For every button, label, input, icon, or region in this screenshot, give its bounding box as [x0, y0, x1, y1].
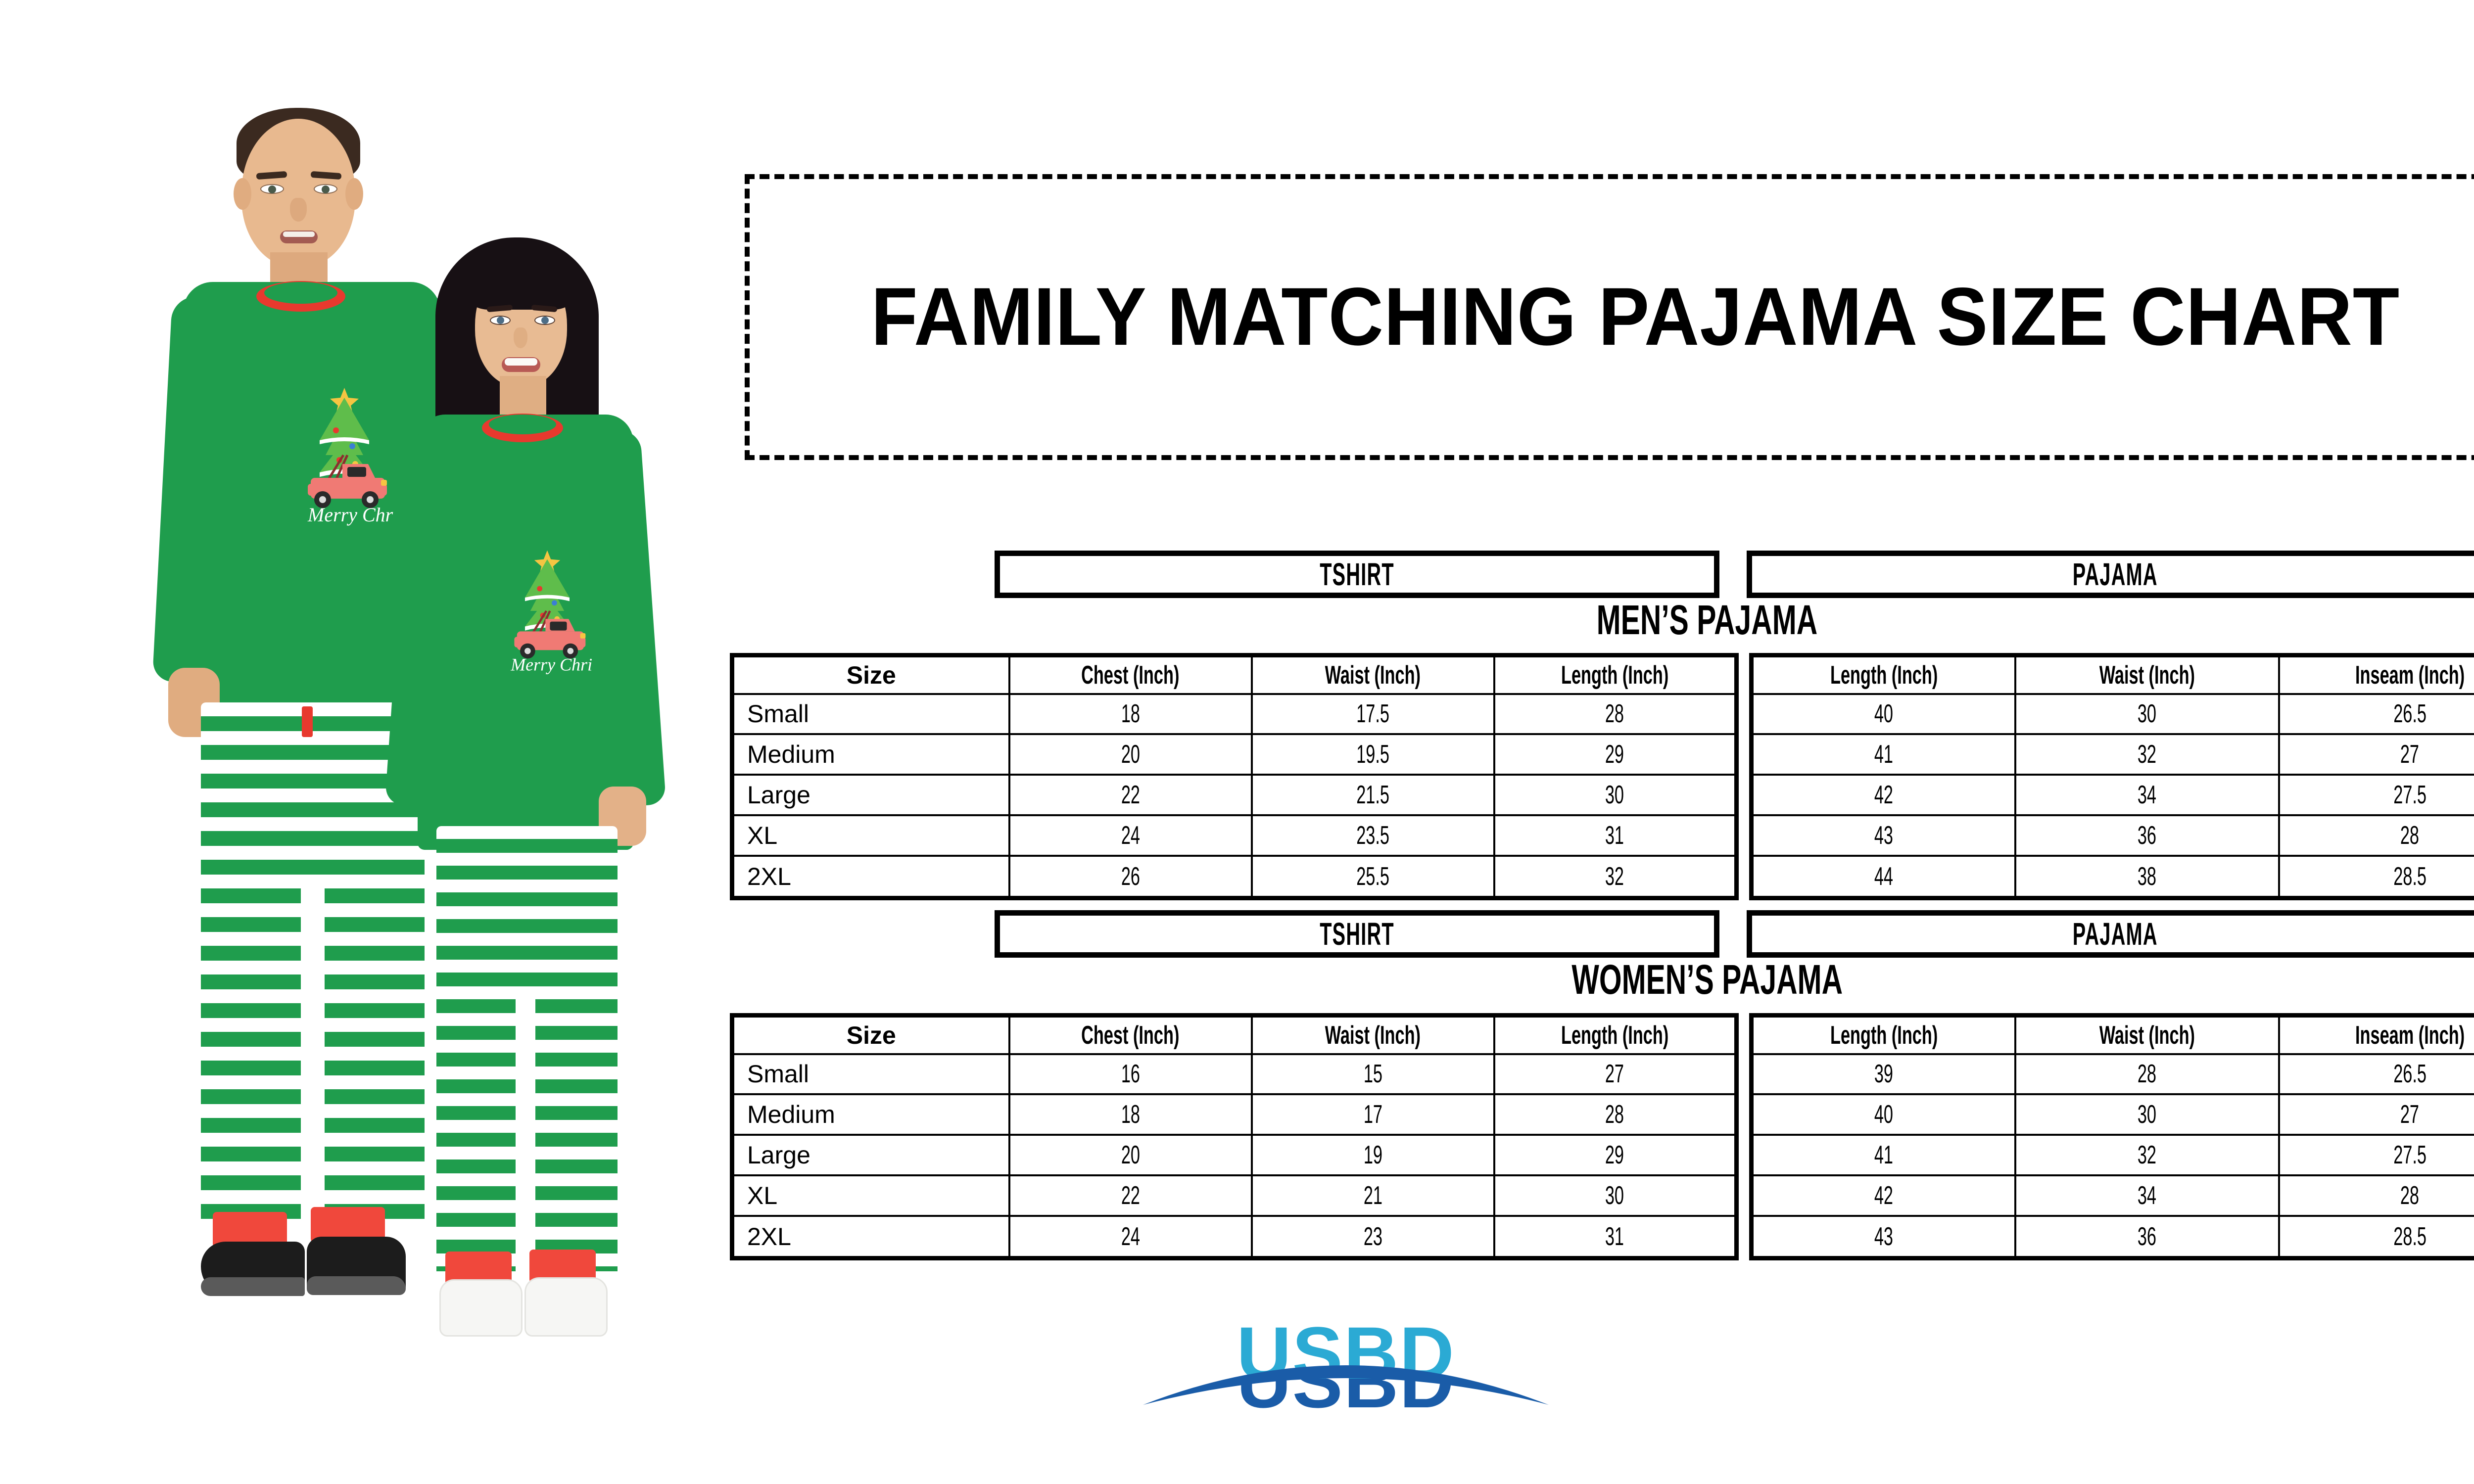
- cell-waist: 19: [1252, 1135, 1494, 1175]
- cell-length: 39: [1752, 1054, 2015, 1095]
- mens-tshirt-size-table: Size Chest (Inch) Waist (Inch) Length (I…: [730, 653, 1739, 900]
- cell-length: 42: [1752, 1175, 2015, 1216]
- womens-pajama-category-label: PAJAMA: [2073, 916, 2158, 952]
- womens-tshirt-category-bar: TSHIRT: [995, 910, 1719, 958]
- cell-waist: 34: [2015, 775, 2279, 815]
- mens-tshirt-category-bar: TSHIRT: [995, 551, 1719, 598]
- cell-size: 2XL: [732, 1216, 1009, 1258]
- table-row: Large 20 19 29: [732, 1135, 1737, 1175]
- cell-waist: 38: [2015, 856, 2279, 898]
- product-photo: Merry Christmas: [148, 84, 717, 1296]
- truck-and-tree-print-icon: Merry Christmas: [245, 381, 394, 529]
- table-row: 2XL 26 25.5 32: [732, 856, 1737, 898]
- mens-pajama-heading: MEN’S PAJAMA: [1336, 596, 2078, 644]
- hair-top: [469, 250, 573, 310]
- mens-pajama-category-label: PAJAMA: [2073, 556, 2158, 593]
- cell-inseam: 26.5: [2279, 1054, 2474, 1095]
- table-row: 42 34 28: [1752, 1175, 2474, 1216]
- cell-length: 41: [1752, 734, 2015, 775]
- sock-right: [524, 1277, 608, 1337]
- cell-inseam: 27.5: [2279, 775, 2474, 815]
- ear-right: [345, 178, 363, 210]
- cell-waist: 32: [2015, 1135, 2279, 1175]
- womens-pajama-heading: WOMEN’S PAJAMA: [1286, 956, 2128, 1004]
- cell-length: 31: [1494, 1216, 1737, 1258]
- nose: [514, 327, 527, 348]
- table-header-row: Length (Inch) Waist (Inch) Inseam (Inch): [1752, 655, 2474, 694]
- cell-inseam: 28.5: [2279, 1216, 2474, 1258]
- cell-waist: 15: [1252, 1054, 1494, 1095]
- cell-chest: 26: [1009, 856, 1252, 898]
- col-header-waist: Waist (Inch): [1252, 655, 1494, 694]
- cell-inseam: 28.5: [2279, 856, 2474, 898]
- table-row: Medium 18 17 28: [732, 1094, 1737, 1135]
- cell-size: Medium: [732, 1094, 1009, 1135]
- table-row: 41 32 27.5: [1752, 1135, 2474, 1175]
- cell-chest: 18: [1009, 694, 1252, 735]
- collar-opening: [489, 415, 556, 434]
- table-header-row: Size Chest (Inch) Waist (Inch) Length (I…: [732, 655, 1737, 694]
- teeth: [283, 232, 315, 237]
- cell-waist: 36: [2015, 815, 2279, 856]
- cell-waist: 28: [2015, 1054, 2279, 1095]
- cell-waist: 25.5: [1252, 856, 1494, 898]
- table-header-row: Length (Inch) Waist (Inch) Inseam (Inch): [1752, 1016, 2474, 1054]
- cell-length: 30: [1494, 1175, 1737, 1216]
- pupil-right: [541, 317, 549, 324]
- table-row: 41 32 27: [1752, 734, 2474, 775]
- cell-chest: 20: [1009, 1135, 1252, 1175]
- cell-length: 27: [1494, 1054, 1737, 1095]
- table-row: Small 16 15 27: [732, 1054, 1737, 1095]
- cell-chest: 22: [1009, 1175, 1252, 1216]
- table-row: XL 24 23.5 31: [732, 815, 1737, 856]
- cell-length: 42: [1752, 775, 2015, 815]
- col-header-inseam: Inseam (Inch): [2279, 655, 2474, 694]
- cell-waist: 17: [1252, 1094, 1494, 1135]
- cell-length: 31: [1494, 815, 1737, 856]
- title-dashed-frame: FAMILY MATCHING PAJAMA SIZE CHART: [745, 174, 2474, 460]
- table-row: 43 36 28.5: [1752, 1216, 2474, 1258]
- cell-inseam: 28: [2279, 1175, 2474, 1216]
- womens-tshirt-size-table: Size Chest (Inch) Waist (Inch) Length (I…: [730, 1013, 1739, 1260]
- pants-center-seam: [301, 885, 325, 1227]
- ear-left: [234, 178, 251, 210]
- womens-pajama-heading-text: WOMEN’S PAJAMA: [1571, 956, 1843, 1004]
- nose: [290, 198, 307, 222]
- neck: [500, 376, 546, 416]
- table-row: 40 30 27: [1752, 1094, 2474, 1135]
- cell-size: Small: [732, 1054, 1009, 1095]
- table-row: XL 22 21 30: [732, 1175, 1737, 1216]
- cell-chest: 20: [1009, 734, 1252, 775]
- womens-tshirt-category-label: TSHIRT: [1320, 916, 1394, 952]
- cell-size: Small: [732, 694, 1009, 735]
- cell-size: XL: [732, 1175, 1009, 1216]
- head: [241, 119, 355, 267]
- cell-size: Large: [732, 1135, 1009, 1175]
- cell-length: 43: [1752, 815, 2015, 856]
- page-title: FAMILY MATCHING PAJAMA SIZE CHART: [871, 270, 2400, 364]
- col-header-length: Length (Inch): [1752, 1016, 2015, 1054]
- cell-length: 43: [1752, 1216, 2015, 1258]
- cell-inseam: 27: [2279, 734, 2474, 775]
- table-row: 2XL 24 23 31: [732, 1216, 1737, 1258]
- cell-length: 30: [1494, 775, 1737, 815]
- col-header-size: Size: [732, 1016, 1009, 1054]
- cell-length: 29: [1494, 1135, 1737, 1175]
- womens-pajama-size-table: Length (Inch) Waist (Inch) Inseam (Inch)…: [1749, 1013, 2474, 1260]
- table-row: Large 22 21.5 30: [732, 775, 1737, 815]
- cell-inseam: 27: [2279, 1094, 2474, 1135]
- table-row: 39 28 26.5: [1752, 1054, 2474, 1095]
- table-row: Medium 20 19.5 29: [732, 734, 1737, 775]
- cell-waist: 30: [2015, 1094, 2279, 1135]
- table-row: 42 34 27.5: [1752, 775, 2474, 815]
- col-header-waist: Waist (Inch): [2015, 1016, 2279, 1054]
- cell-length: 29: [1494, 734, 1737, 775]
- cell-waist: 21: [1252, 1175, 1494, 1216]
- cell-length: 28: [1494, 1094, 1737, 1135]
- col-header-inseam: Inseam (Inch): [2279, 1016, 2474, 1054]
- womens-pajama-category-bar: PAJAMA: [1747, 910, 2474, 958]
- cell-chest: 24: [1009, 815, 1252, 856]
- cell-waist: 21.5: [1252, 775, 1494, 815]
- cell-waist: 17.5: [1252, 694, 1494, 735]
- cell-chest: 16: [1009, 1054, 1252, 1095]
- table-row: 44 38 28.5: [1752, 856, 2474, 898]
- cell-size: XL: [732, 815, 1009, 856]
- svg-text:Merry Christmas: Merry Christmas: [510, 655, 592, 675]
- pupil-left: [497, 317, 504, 324]
- cell-chest: 24: [1009, 1216, 1252, 1258]
- col-header-length: Length (Inch): [1494, 1016, 1737, 1054]
- table-row: Small 18 17.5 28: [732, 694, 1737, 735]
- cell-inseam: 27.5: [2279, 1135, 2474, 1175]
- cell-waist: 19.5: [1252, 734, 1494, 775]
- mens-tshirt-category-label: TSHIRT: [1320, 556, 1394, 593]
- col-header-chest: Chest (Inch): [1009, 655, 1252, 694]
- table-row: 40 30 26.5: [1752, 694, 2474, 735]
- cell-waist: 23.5: [1252, 815, 1494, 856]
- teeth: [505, 358, 537, 366]
- col-header-waist: Waist (Inch): [1252, 1016, 1494, 1054]
- pupil-right: [322, 185, 330, 193]
- female-model: Merry Christmas: [381, 218, 668, 1296]
- table-row: 43 36 28: [1752, 815, 2474, 856]
- col-header-chest: Chest (Inch): [1009, 1016, 1252, 1054]
- cell-waist: 36: [2015, 1216, 2279, 1258]
- mens-pajama-category-bar: PAJAMA: [1747, 551, 2474, 598]
- sock-left: [439, 1279, 523, 1337]
- cell-length: 40: [1752, 694, 2015, 735]
- cell-length: 44: [1752, 856, 2015, 898]
- col-header-length: Length (Inch): [1752, 655, 2015, 694]
- cell-waist: 23: [1252, 1216, 1494, 1258]
- col-header-size: Size: [732, 655, 1009, 694]
- col-header-length: Length (Inch): [1494, 655, 1737, 694]
- sole-left: [201, 1277, 305, 1296]
- cell-size: Large: [732, 775, 1009, 815]
- pants-center-seam: [516, 989, 535, 1271]
- cell-inseam: 26.5: [2279, 694, 2474, 735]
- pupil-left: [268, 185, 276, 193]
- cell-inseam: 28: [2279, 815, 2474, 856]
- cell-waist: 34: [2015, 1175, 2279, 1216]
- table-header-row: Size Chest (Inch) Waist (Inch) Length (I…: [732, 1016, 1737, 1054]
- mens-pajama-size-table: Length (Inch) Waist (Inch) Inseam (Inch)…: [1749, 653, 2474, 900]
- drawstring: [302, 706, 313, 737]
- cell-length: 41: [1752, 1135, 2015, 1175]
- cell-length: 40: [1752, 1094, 2015, 1135]
- cell-length: 32: [1494, 856, 1737, 898]
- cell-chest: 18: [1009, 1094, 1252, 1135]
- collar-opening: [264, 282, 337, 304]
- cell-chest: 22: [1009, 775, 1252, 815]
- cell-size: 2XL: [732, 856, 1009, 898]
- truck-and-tree-print-icon: Merry Christmas: [458, 544, 592, 678]
- usbd-logo: USBD USBD: [1158, 1316, 1534, 1439]
- cell-waist: 30: [2015, 694, 2279, 735]
- cell-length: 28: [1494, 694, 1737, 735]
- cell-waist: 32: [2015, 734, 2279, 775]
- mens-pajama-heading-text: MEN’S PAJAMA: [1597, 596, 1817, 644]
- col-header-waist: Waist (Inch): [2015, 655, 2279, 694]
- cell-size: Medium: [732, 734, 1009, 775]
